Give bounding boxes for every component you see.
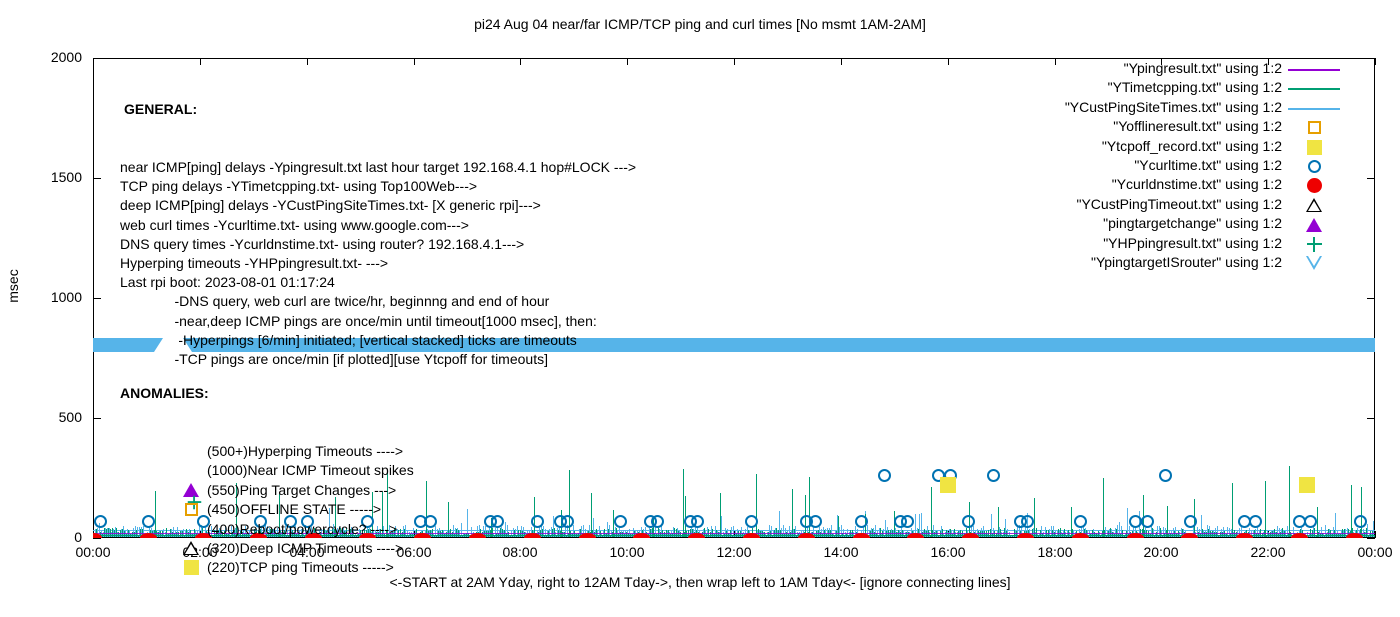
legend-label: "YpingtargetISrouter" using 1:2 (1091, 254, 1282, 270)
legend-key (1288, 236, 1340, 253)
circle-filled-icon (1288, 177, 1340, 194)
legend-line-swatch (1288, 88, 1340, 90)
anomalies-rows: (500+)Hyperping Timeouts ---->(1000)Near… (120, 442, 209, 578)
square-open-icon (1308, 121, 1321, 134)
tcp-ping-sample (1154, 536, 1155, 537)
general-lines: near ICMP[ping] delays -Ypingresult.txt … (120, 158, 636, 369)
dns-time-marker (743, 533, 760, 538)
curl-time-marker (1141, 515, 1154, 528)
legend-row: "pingtargetchange" using 1:2 (1020, 215, 1340, 234)
curl-time-marker (1184, 515, 1197, 528)
anomaly-label: (500+)Hyperping Timeouts ----> (207, 442, 403, 461)
legend-row: "YCustPingTimeout.txt" using 1:2 (1020, 196, 1340, 215)
x-tick-mark (1375, 58, 1376, 65)
curl-time-marker (94, 515, 107, 528)
tcp-ping-spike-tall (1103, 478, 1104, 537)
legend-key (1288, 197, 1340, 214)
dns-time-marker (907, 533, 924, 538)
y-tick-label: 1500 (20, 169, 82, 185)
router-band-triangle (93, 338, 101, 352)
plus-icon (1307, 237, 1322, 252)
legend-label: "Ycurltime.txt" using 1:2 (1134, 157, 1282, 173)
tcp-ping-sample (878, 536, 879, 537)
tcp-ping-sample (598, 536, 599, 537)
chart-title: pi24 Aug 04 near/far ICMP/TCP ping and c… (0, 16, 1400, 32)
anomaly-row: (220)TCP ping Timeouts -----> (120, 558, 209, 577)
legend-label: "YHPpingresult.txt" using 1:2 (1103, 235, 1282, 251)
legend-key (1288, 61, 1340, 78)
square-open-icon (1288, 119, 1340, 136)
tcp-ping-sample (1158, 536, 1159, 537)
x-tick-label: 22:00 (1233, 544, 1303, 560)
legend-key (1288, 139, 1340, 156)
tcp-ping-spike (448, 502, 449, 537)
legend-row: "Ytcpoff_record.txt" using 1:2 (1020, 138, 1340, 157)
curl-time-marker (1074, 515, 1087, 528)
dns-time-marker (1181, 533, 1198, 538)
legend-key (1288, 216, 1340, 233)
general-line: -near,deep ICMP pings are once/min until… (120, 312, 636, 331)
dns-time-marker (1291, 533, 1308, 538)
legend-row: "Ycurldnstime.txt" using 1:2 (1020, 176, 1340, 195)
tcp-ping-spike-tall (809, 477, 810, 537)
general-line: web curl times -Ycurltime.txt- using www… (120, 216, 636, 235)
dns-time-marker (414, 533, 431, 538)
tcp-ping-spike (1361, 487, 1362, 537)
tcp-ping-spike (1232, 483, 1233, 537)
triangle-up-filled-icon (1306, 218, 1322, 232)
triangle-up-open-icon (1306, 198, 1322, 212)
chart-root: pi24 Aug 04 near/far ICMP/TCP ping and c… (0, 0, 1400, 600)
legend-label: "YTimetcpping.txt" using 1:2 (1108, 79, 1282, 95)
plus-icon (1288, 236, 1340, 253)
y-tick-mark (93, 538, 101, 539)
curl-time-marker (1249, 515, 1262, 528)
legend-label: "pingtargetchange" using 1:2 (1103, 215, 1282, 231)
anomaly-label: (550)Ping Target Changes ---> (207, 481, 396, 500)
dns-time-marker (853, 533, 870, 538)
tcp-ping-spike-tall (1289, 466, 1290, 537)
x-tick-label: 14:00 (806, 544, 876, 560)
tcp-ping-sample (882, 531, 883, 537)
dns-time-marker (469, 533, 486, 538)
y-tick-label: 1000 (20, 289, 82, 305)
general-line: DNS query times -Ycurldnstime.txt- using… (120, 235, 636, 254)
circle-open-icon (1308, 160, 1321, 173)
square-filled-icon (184, 560, 199, 575)
tcp-ping-spike (591, 493, 592, 537)
triangle-up-filled-icon (1288, 216, 1340, 233)
tcp-ping-sample (766, 536, 767, 537)
square-open-icon (185, 503, 198, 516)
legend-key (1288, 100, 1340, 117)
x-tick-label: 16:00 (913, 544, 983, 560)
dns-time-marker (1236, 533, 1253, 538)
square-filled-icon (1307, 140, 1322, 155)
general-line: -DNS query, web curl are twice/hr, begin… (120, 292, 636, 311)
tcp-ping-spike (1351, 485, 1352, 537)
anomalies-annotation-block: ANOMALIES: (500+)Hyperping Timeouts ----… (120, 345, 209, 617)
general-header: GENERAL: (120, 100, 636, 119)
tcp-ping-sample (726, 531, 727, 537)
triangle-up-open-icon (1288, 197, 1340, 214)
dns-time-marker (1072, 533, 1089, 538)
general-line: Hyperping timeouts -YHPpingresult.txt- -… (120, 254, 636, 273)
anomaly-row: (500+)Hyperping Timeouts ----> (120, 442, 209, 461)
x-tick-label: 10:00 (592, 544, 662, 560)
y-tick-mark (1367, 538, 1375, 539)
tcp-ping-spike-tall (756, 474, 757, 537)
dns-time-marker (579, 533, 596, 538)
anomaly-label: (1000)Near ICMP Timeout spikes (207, 461, 414, 480)
tcp-ping-spike (1034, 498, 1035, 537)
legend-row: "Ycurltime.txt" using 1:2 (1020, 157, 1340, 176)
x-tick-label: 20:00 (1126, 544, 1196, 560)
legend-label: "Ypingresult.txt" using 1:2 (1124, 60, 1282, 76)
legend-label: "YCustPingSiteTimes.txt" using 1:2 (1065, 99, 1282, 115)
y-axis-label: msec (5, 256, 21, 316)
triangle-down-open-icon (1288, 255, 1340, 272)
curl-time-marker-elevated (987, 469, 1000, 482)
legend-key (1288, 158, 1340, 175)
triangle-up-open-icon (183, 541, 199, 555)
legend-label: "Yofflineresult.txt" using 1:2 (1113, 118, 1282, 134)
dns-time-marker (798, 533, 815, 538)
dns-time-marker (1346, 533, 1363, 538)
x-tick-label: 00:00 (1340, 544, 1400, 560)
curl-time-marker (1354, 515, 1367, 528)
anomaly-label: (450)OFFLINE STATE -----> (207, 500, 381, 519)
legend-key (1288, 177, 1340, 194)
curl-time-marker (614, 515, 627, 528)
anomaly-marker (182, 559, 200, 576)
y-tick-label: 0 (20, 529, 82, 545)
dns-time-marker (524, 533, 541, 538)
curl-time-marker-elevated (878, 469, 891, 482)
tcp-ping-sample (1368, 536, 1369, 537)
chart-legend: "Ypingresult.txt" using 1:2"YTimetcpping… (1020, 60, 1340, 273)
triangle-down-open-icon (1306, 256, 1322, 270)
circle-open-icon (1288, 158, 1340, 175)
square-open-icon (182, 501, 200, 518)
curl-time-marker (491, 515, 504, 528)
legend-row: "YpingtargetISrouter" using 1:2 (1020, 254, 1340, 273)
curl-time-marker (1021, 515, 1034, 528)
x-tick-label: 12:00 (699, 544, 769, 560)
curl-time-marker (691, 515, 704, 528)
tcp-ping-spike-tall (683, 469, 684, 537)
curl-time-marker (901, 515, 914, 528)
anomaly-marker (182, 501, 200, 518)
x-tick-mark (1375, 531, 1376, 538)
general-line: near ICMP[ping] delays -Ypingresult.txt … (120, 158, 636, 177)
general-line: deep ICMP[ping] delays -YCustPingSiteTim… (120, 196, 636, 215)
anomaly-marker (182, 540, 200, 557)
curl-time-marker-elevated (1159, 469, 1172, 482)
legend-row: "YCustPingSiteTimes.txt" using 1:2 (1020, 99, 1340, 118)
tcp-off-marker (1299, 477, 1315, 493)
x-tick-label: 08:00 (485, 544, 555, 560)
anomaly-row: (1000)Near ICMP Timeout spikes (120, 461, 209, 480)
tcp-ping-sample (734, 536, 735, 537)
anomaly-row: (550)Ping Target Changes ---> (120, 481, 209, 500)
anomaly-label: (320)Deep ICMP Timeouts ----> (207, 539, 403, 558)
y-tick-label: 2000 (20, 49, 82, 65)
legend-row: "YTimetcpping.txt" using 1:2 (1020, 79, 1340, 98)
y-tick-label: 500 (20, 409, 82, 425)
general-line: TCP ping delays -YTimetcpping.txt- using… (120, 177, 636, 196)
dns-time-marker (1017, 533, 1034, 538)
legend-row: "Ypingresult.txt" using 1:2 (1020, 60, 1340, 79)
legend-key (1288, 119, 1340, 136)
circle-filled-icon (1307, 178, 1322, 193)
x-tick-label: 18:00 (1020, 544, 1090, 560)
legend-key (1288, 80, 1340, 97)
general-line: Last rpi boot: 2023-08-01 01:17:24 (120, 273, 636, 292)
square-filled-icon (182, 559, 200, 576)
anomaly-label: (220)TCP ping Timeouts -----> (207, 558, 394, 577)
x-tick-label: 00:00 (58, 544, 128, 560)
legend-line-swatch (1288, 69, 1340, 71)
anomaly-row: (400)Reboot/powercycle? ----> (120, 520, 209, 539)
anomalies-header: ANOMALIES: (120, 384, 209, 403)
dns-time-marker (1127, 533, 1144, 538)
tcp-ping-spike (1265, 481, 1266, 537)
anomaly-row: (320)Deep ICMP Timeouts ----> (120, 539, 209, 558)
legend-label: "Ytcpoff_record.txt" using 1:2 (1102, 138, 1282, 154)
dns-time-marker (688, 533, 705, 538)
square-filled-icon (1288, 139, 1340, 156)
triangle-up-open-icon (182, 540, 200, 557)
legend-label: "Ycurldnstime.txt" using 1:2 (1112, 176, 1282, 192)
legend-row: "Yofflineresult.txt" using 1:2 (1020, 118, 1340, 137)
tcp-ping-sample (738, 531, 739, 537)
dns-time-marker (962, 533, 979, 538)
legend-label: "YCustPingTimeout.txt" using 1:2 (1076, 196, 1282, 212)
legend-row: "YHPpingresult.txt" using 1:2 (1020, 235, 1340, 254)
legend-line-swatch (1288, 108, 1340, 110)
tcp-ping-spike (792, 489, 793, 537)
tcp-ping-spike (426, 481, 427, 537)
tcp-off-marker (940, 477, 956, 493)
anomaly-row: (450)OFFLINE STATE -----> (120, 500, 209, 519)
tcp-ping-spike (720, 493, 721, 537)
dns-time-marker (633, 533, 650, 538)
legend-key (1288, 255, 1340, 272)
tcp-ping-sample (1124, 536, 1125, 537)
curl-time-marker (1304, 515, 1317, 528)
curl-time-marker (809, 515, 822, 528)
anomaly-label: (400)Reboot/powercycle? ----> (207, 520, 397, 539)
tcp-ping-spike (931, 487, 932, 537)
curl-time-marker (651, 515, 664, 528)
